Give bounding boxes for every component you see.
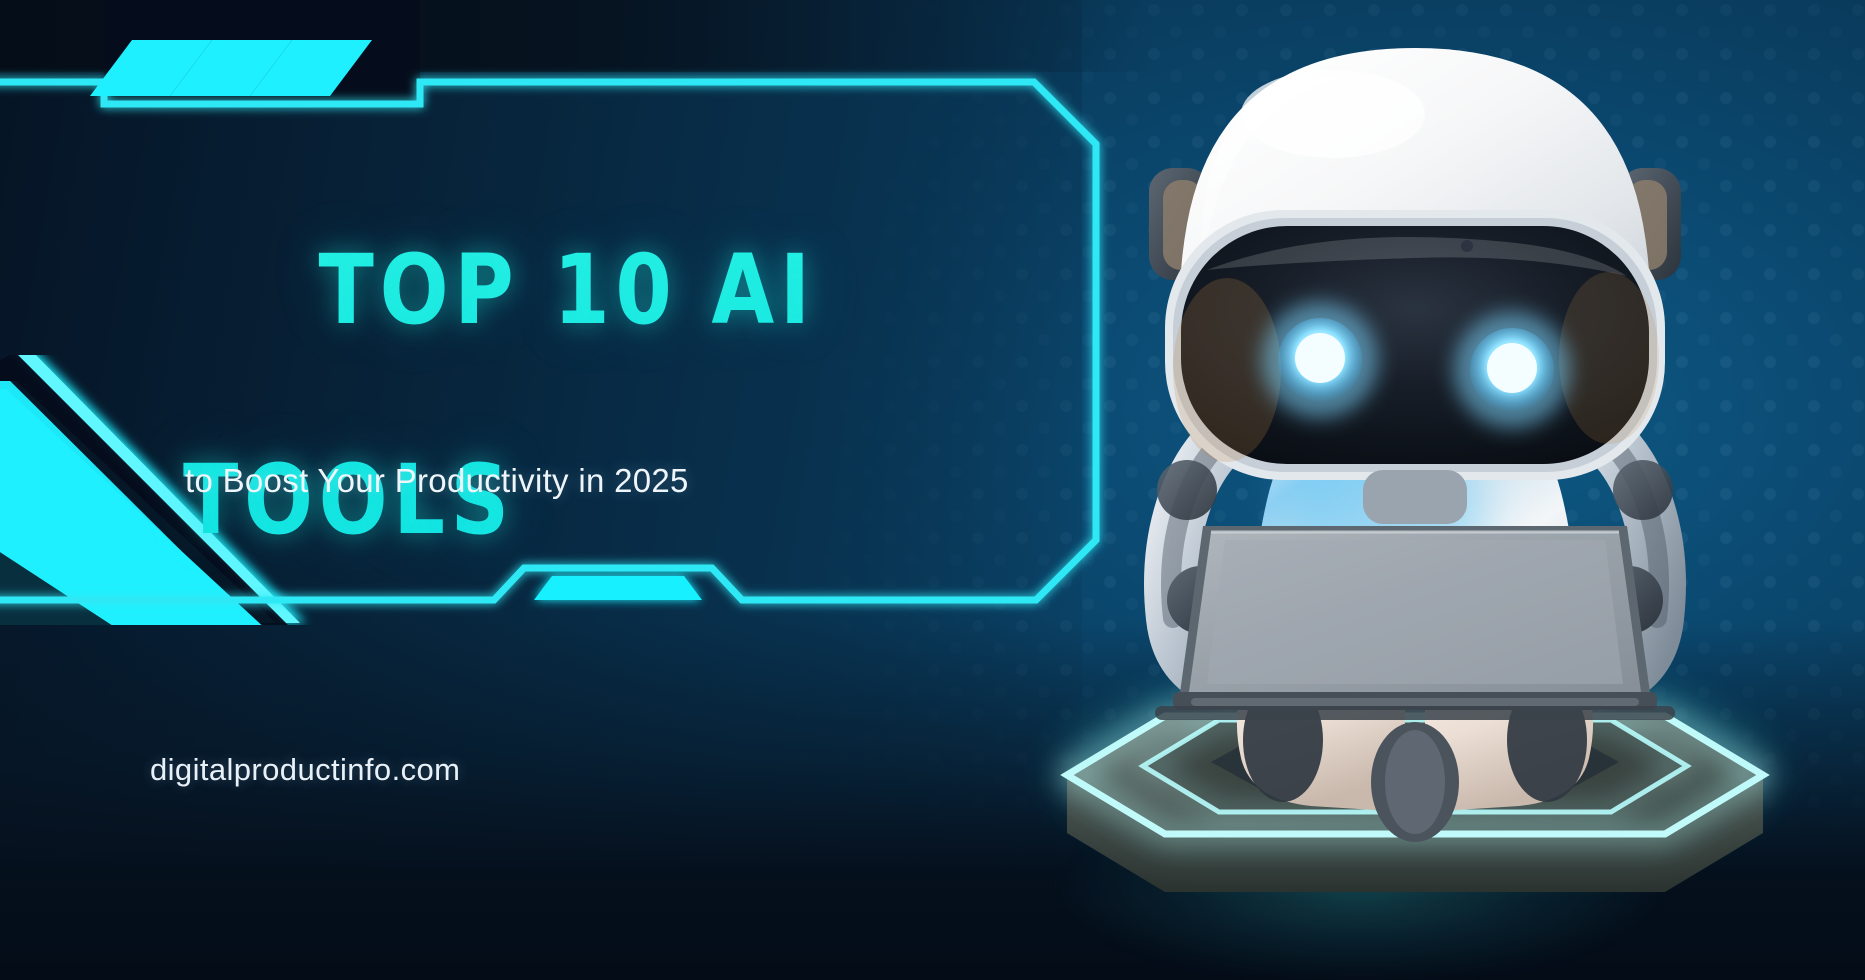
banner-canvas: TOP 10 AI TOOLS to Boost Your Productivi… [0,0,1865,980]
page-subtitle: to Boost Your Productivity in 2025 [185,462,689,500]
robot-head [1149,48,1681,524]
ai-robot-with-laptop [1015,40,1815,980]
triple-slash-badge [90,40,372,96]
robot-eye-right [1454,312,1570,428]
title-line-1: TOP 10 AI [319,234,816,346]
website-url: digitalproductinfo.com [150,752,460,788]
robot-laptop [1155,526,1675,720]
robot-eye-left [1262,302,1378,418]
page-title: TOP 10 AI TOOLS [183,152,897,731]
